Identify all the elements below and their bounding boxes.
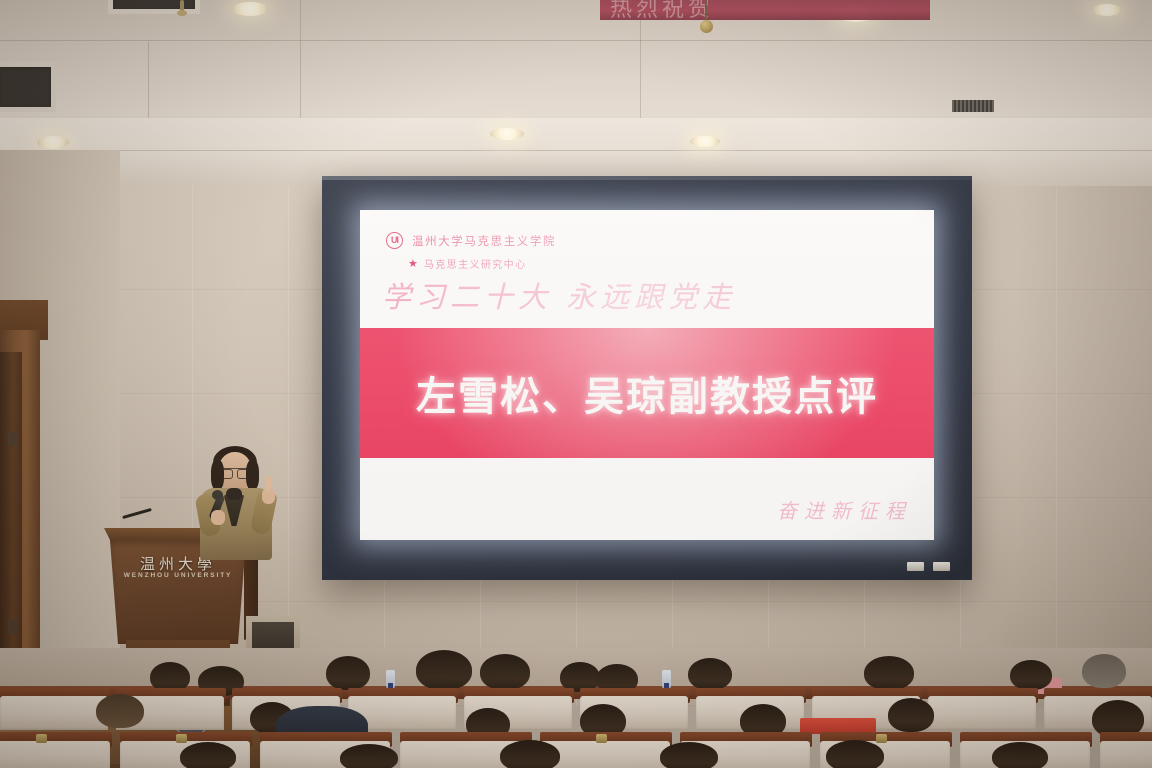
ceiling-downlight-icon	[37, 136, 69, 149]
speaker-collar	[226, 488, 242, 500]
ceiling-downlight-icon	[1092, 4, 1122, 16]
audience-head	[1010, 660, 1052, 690]
ceiling-downlight-icon	[232, 2, 268, 16]
seat-cover	[928, 696, 1036, 730]
slide-calligraphy-top: 学习二十大 永远跟党走	[382, 274, 736, 316]
speaker-person	[186, 446, 290, 558]
audience-head	[326, 656, 370, 690]
seat-number-badge	[176, 734, 187, 743]
audience-head	[826, 740, 884, 768]
audience-head	[688, 658, 732, 690]
seat-number-badge	[36, 734, 47, 743]
ceiling	[0, 0, 1152, 190]
overhead-banner-text: 热烈祝贺	[610, 0, 714, 20]
university-logo-icon: UI	[386, 232, 403, 249]
ceiling-seam	[300, 0, 301, 120]
audience-head	[500, 740, 560, 768]
speaker-glasses-icon	[219, 468, 251, 476]
wall-shadow-right	[982, 186, 1152, 706]
overhead-banner: 热烈祝贺	[600, 0, 930, 20]
screen-badge	[907, 562, 924, 571]
audience-head	[992, 742, 1048, 768]
audience-head	[180, 742, 236, 768]
slide-org-name: 温州大学马克思主义学院	[412, 233, 556, 249]
ceiling-downlight-icon	[490, 128, 524, 140]
lectern-university-name-en: WENZHOU UNIVERSITY	[110, 572, 246, 579]
seat-cover	[0, 696, 108, 730]
audience-head	[864, 656, 914, 690]
ceiling-vent-icon	[952, 100, 994, 112]
star-icon: ★	[408, 257, 418, 270]
slide-red-banner: 左雪松、吴琼副教授点评	[360, 328, 934, 458]
slide-main-title: 左雪松、吴琼副教授点评	[360, 328, 934, 458]
audience-head	[96, 694, 144, 728]
slide-sub-header: ★ 马克思主义研究中心	[408, 256, 526, 271]
microphone-head-icon	[212, 490, 223, 500]
door-hinge-icon	[8, 432, 17, 446]
ceiling-seam	[0, 150, 1152, 151]
ceiling-seam	[0, 40, 1152, 41]
seat-cover	[1100, 741, 1152, 768]
speaker-pointing-finger	[266, 476, 271, 492]
slide-org-header: UI 温州大学马克思主义学院	[386, 232, 556, 249]
screen-bezel-highlight	[322, 176, 972, 180]
slide-sub-name: 马克思主义研究中心	[424, 256, 527, 271]
audience-head	[480, 654, 530, 690]
ceiling-downlight-icon	[690, 136, 720, 147]
ceiling-seam	[148, 42, 149, 120]
water-bottle	[386, 670, 395, 689]
audience-area	[0, 648, 1152, 768]
water-bottle	[662, 670, 671, 689]
speaker-left-hand	[211, 510, 225, 525]
audience-head	[416, 650, 472, 690]
seat-number-badge	[876, 734, 887, 743]
seat-cover	[0, 741, 110, 768]
sprinkler-icon	[180, 0, 184, 12]
audience-head	[660, 742, 718, 768]
screen-badge	[933, 562, 950, 571]
audience-head	[1082, 654, 1126, 688]
audience-head	[888, 698, 934, 732]
door-hinge-icon	[8, 620, 17, 634]
lecture-hall-photo: 热烈祝贺 UI 温州大学马克思主义学院 ★ 马克思主义研究中心 学习二	[0, 0, 1152, 768]
ceiling-vent-icon	[0, 62, 56, 112]
slide-calligraphy-bottom: 奋进新征程	[777, 495, 912, 524]
banner-knob-icon	[700, 20, 713, 33]
projection-screen-frame: UI 温州大学马克思主义学院 ★ 马克思主义研究中心 学习二十大 永远跟党走 左…	[322, 176, 972, 580]
presentation-slide: UI 温州大学马克思主义学院 ★ 马克思主义研究中心 学习二十大 永远跟党走 左…	[360, 210, 934, 540]
audience-head	[340, 744, 398, 768]
seat-number-badge	[596, 734, 607, 743]
